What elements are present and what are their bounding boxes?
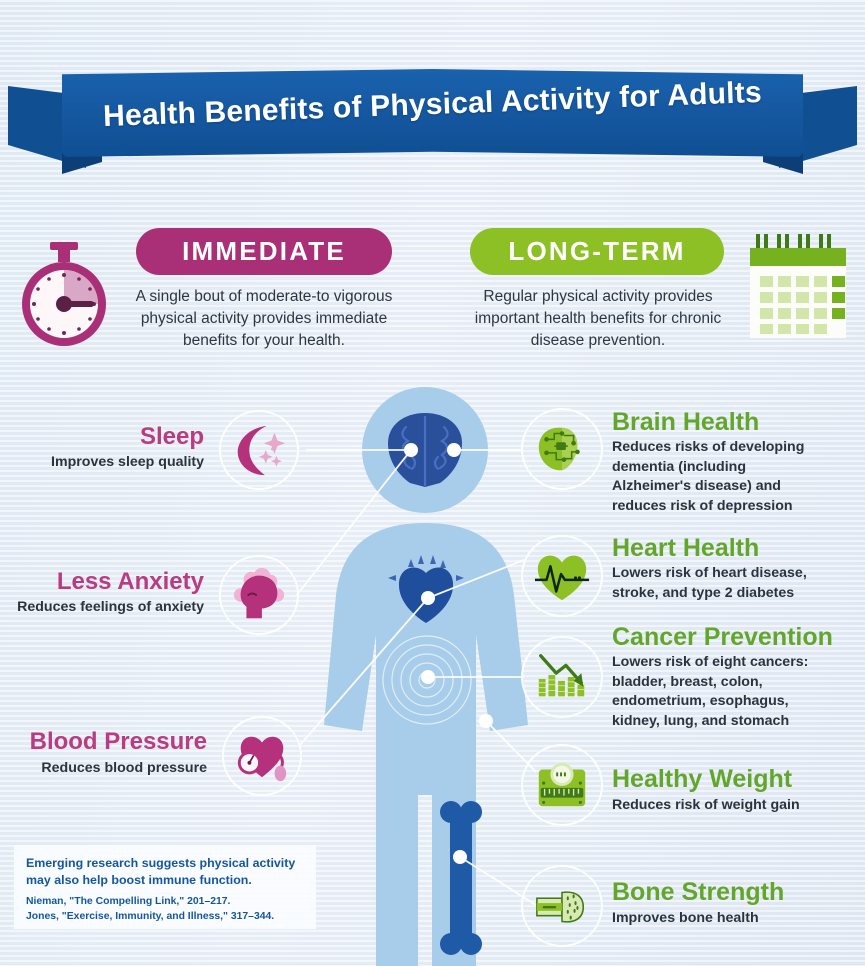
brain-circuit-icon [533,420,591,478]
benefit-title-sleep: Sleep [0,423,204,451]
blood-pressure-icon-circle [222,716,302,796]
citation-ref-2: Jones, "Exercise, Immunity, and Illness,… [26,910,304,925]
heart-gauge-icon [233,727,291,785]
citation-ref-1: Nieman, "The Compelling Link," 201–217. [26,895,304,910]
benefit-desc-brain-health: Reduces risks of developing dementia (in… [612,438,827,516]
citation-lead: Emerging research suggests physical acti… [26,855,304,888]
longterm-label: LONG-TERM [508,236,685,267]
infographic-page: Health Benefits of Physical Activity for… [0,0,865,966]
benefit-title-cancer-prevention: Cancer Prevention [612,623,862,652]
benefit-desc-heart-health: Lowers risk of heart disease, stroke, an… [612,564,837,603]
benefit-desc-blood-pressure: Reduces blood pressure [0,759,207,779]
benefit-desc-bone-strength: Improves bone health [612,909,837,929]
sleep-icon-circle [219,410,299,490]
less-anxiety-icon-circle [219,555,299,635]
immediate-label: IMMEDIATE [182,236,346,267]
healthy-weight-icon-circle [521,744,603,826]
benefit-title-less-anxiety: Less Anxiety [0,568,204,596]
citation-box: Emerging research suggests physical acti… [14,845,316,929]
longterm-category-pill: LONG-TERM [470,228,724,275]
brain-health-icon-circle [521,408,603,490]
benefit-desc-cancer-prevention: Lowers risk of eight cancers: bladder, b… [612,653,837,731]
declining-chart-icon [533,648,591,706]
weight-scale-icon [533,756,591,814]
benefit-desc-sleep: Improves sleep quality [0,453,204,473]
benefit-title-brain-health: Brain Health [612,408,862,437]
benefit-desc-healthy-weight: Reduces risk of weight gain [612,796,837,816]
heart-health-icon-circle [521,535,603,617]
benefit-title-heart-health: Heart Health [612,534,862,563]
benefit-title-blood-pressure: Blood Pressure [0,728,207,756]
bone-icon [533,877,591,935]
immediate-description: A single bout of moderate-to vigorous ph… [114,286,414,352]
calendar-icon [746,234,850,340]
head-clouds-icon [230,566,288,624]
bone-strength-icon-circle [521,865,603,947]
longterm-description: Regular physical activity provides impor… [450,286,746,352]
immediate-category-pill: IMMEDIATE [136,228,392,275]
heart-pulse-icon [533,547,591,605]
cancer-prevention-icon-circle [521,636,603,718]
moon-stars-icon [230,421,288,479]
benefit-title-bone-strength: Bone Strength [612,878,862,907]
body-silhouette [300,395,555,966]
benefit-desc-less-anxiety: Reduces feelings of anxiety [0,598,204,618]
stopwatch-icon [10,240,118,348]
benefit-title-healthy-weight: Healthy Weight [612,765,862,794]
banner: Health Benefits of Physical Activity for… [0,60,865,190]
